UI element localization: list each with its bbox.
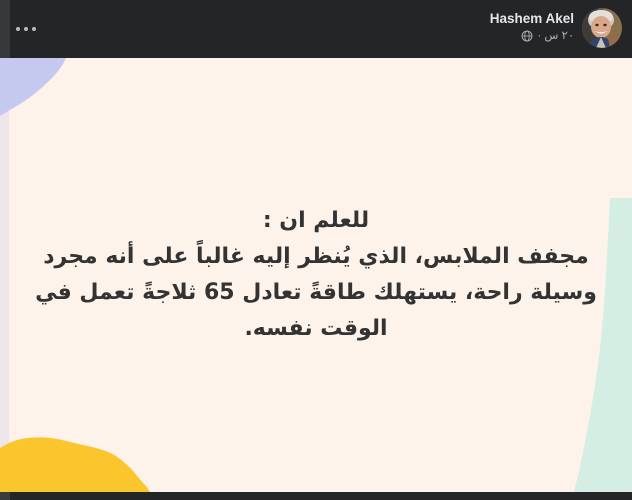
footer-left-rail	[0, 492, 10, 500]
post-timestamp[interactable]: ٢٠ س ·	[537, 29, 574, 43]
header-left-rail	[0, 0, 10, 58]
dot	[16, 27, 20, 31]
post-meta-row: ٢٠ س ·	[521, 29, 574, 43]
footer-bar	[0, 492, 632, 500]
facebook-post-screenshot: Hashem Akel ٢٠ س ·	[0, 0, 632, 500]
post-header: Hashem Akel ٢٠ س ·	[0, 0, 632, 58]
avatar[interactable]	[582, 8, 622, 48]
post-text-line-2: مجفف الملابس، الذي يُنظر إليه غالباً على…	[43, 239, 589, 275]
post-text-line-3: وسيلة راحة، يستهلك طاقةً تعادل 65 ثلاجةً…	[35, 275, 597, 311]
post-content-card: للعلم ان : مجفف الملابس، الذي يُنظر إليه…	[0, 58, 632, 492]
globe-icon	[521, 30, 533, 42]
dot	[24, 27, 28, 31]
post-text-body: للعلم ان : مجفف الملابس، الذي يُنظر إليه…	[0, 58, 632, 492]
author-name[interactable]: Hashem Akel	[490, 10, 574, 27]
post-text-line-1: للعلم ان :	[263, 203, 369, 239]
post-author-block: Hashem Akel ٢٠ س ·	[490, 8, 622, 48]
dot	[32, 27, 36, 31]
post-text-line-4: الوقت نفسه.	[244, 311, 387, 347]
author-text-block: Hashem Akel ٢٠ س ·	[490, 8, 574, 43]
ellipsis-horizontal-icon[interactable]	[16, 22, 46, 36]
